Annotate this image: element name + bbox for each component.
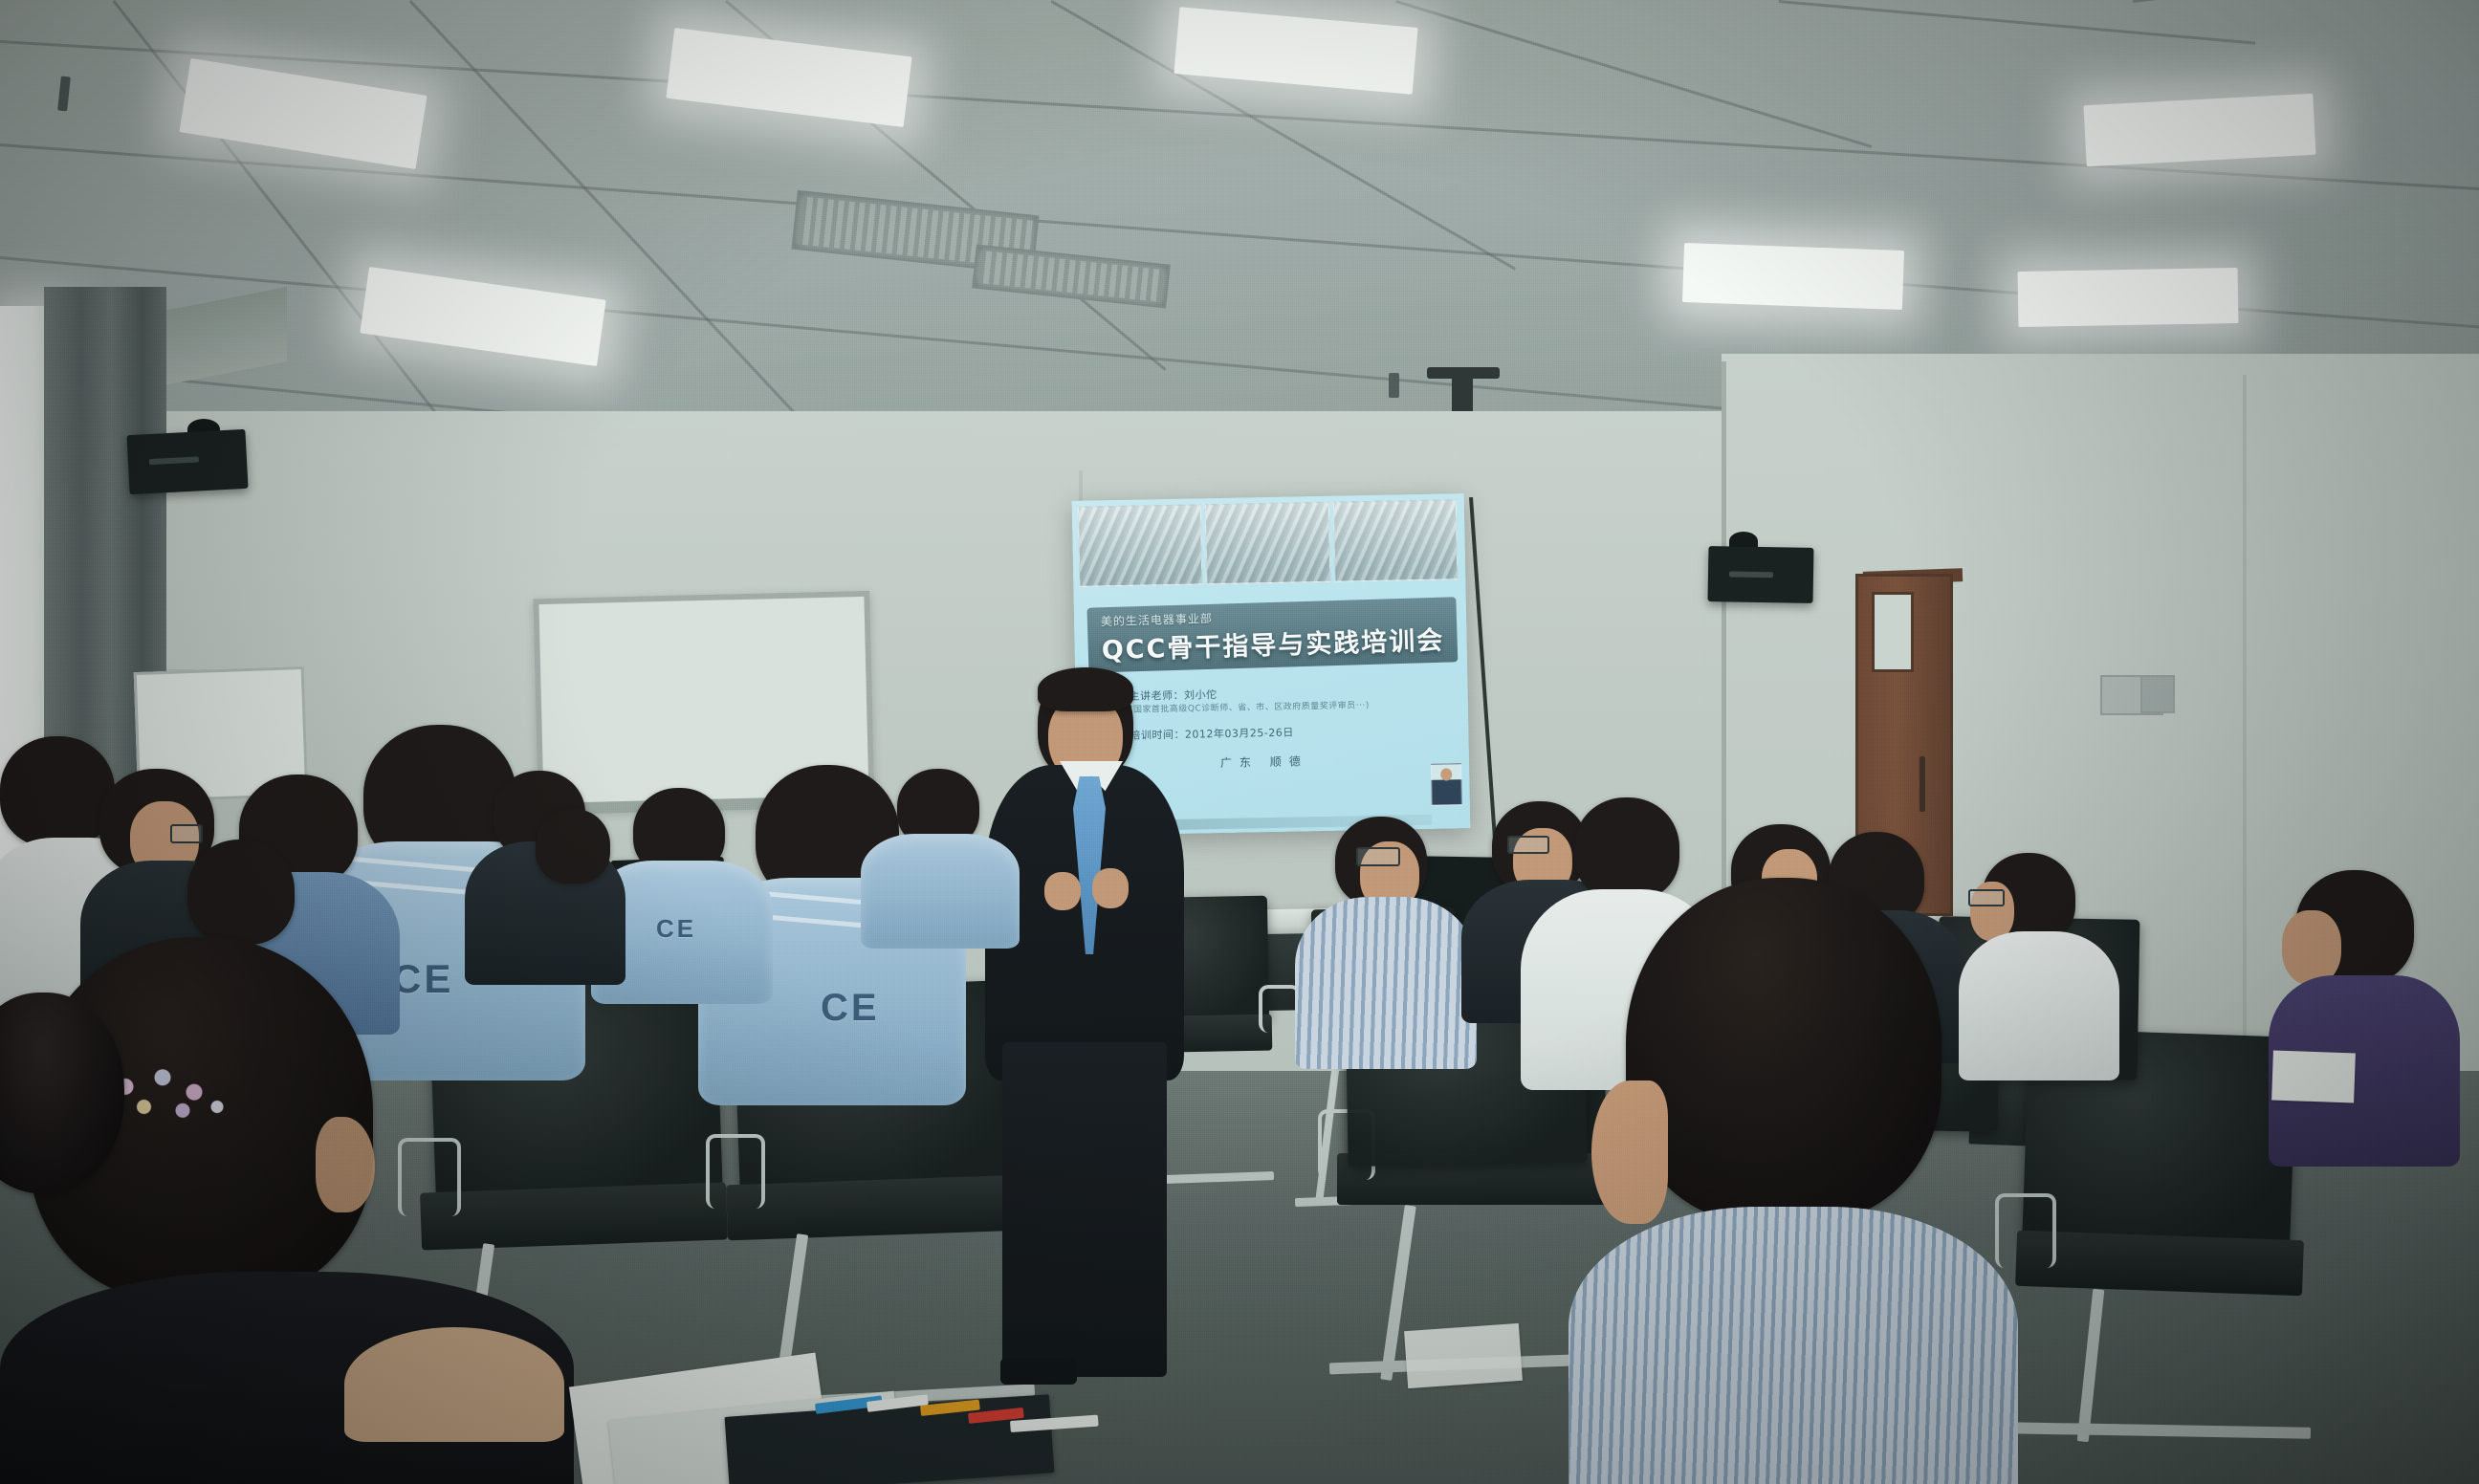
slide-photo [1205, 502, 1330, 584]
right-wall-speaker [1708, 546, 1814, 603]
audience-head [536, 809, 610, 884]
handout-paper[interactable] [1404, 1323, 1523, 1388]
audience-head [1574, 797, 1679, 901]
ceiling-light-panel [2083, 94, 2315, 166]
ceiling-light-panel [2018, 268, 2239, 327]
eyeglasses [1507, 836, 1549, 854]
door-window [1872, 592, 1914, 672]
eyeglasses [1356, 847, 1400, 866]
foreground-shoulder-skin [344, 1327, 564, 1442]
slide-date-line: 培训时间：2012年03月25-26日 [1130, 723, 1441, 743]
presenter-hand [1044, 872, 1081, 910]
ceiling-hook [1389, 373, 1399, 398]
slide-location: 广东 顺德 [1220, 753, 1308, 771]
slide-photo [1078, 504, 1203, 586]
slide-photo-strip [1078, 499, 1459, 587]
slide-photo [1332, 499, 1458, 581]
ceiling-light-panel [1682, 243, 1904, 310]
presenter-shoe [1000, 1358, 1077, 1385]
slide-speaker-portrait [1431, 763, 1462, 806]
presenter-hair [1038, 667, 1133, 711]
left-wall-speaker [126, 429, 248, 494]
presenter-hand [1092, 868, 1129, 908]
eyeglasses [1968, 889, 2005, 906]
foreground-ear [316, 1117, 375, 1212]
ce-badge-text: CE [392, 956, 453, 1002]
audience-torso [1295, 897, 1477, 1069]
training-room-photo: 美的生活电器事业部 QCC骨干指导与实践培训会 主讲老师：刘小佗 (国家首批高级… [0, 0, 2479, 1484]
wall-seam [2243, 375, 2247, 1044]
audience-head [187, 840, 295, 945]
ce-badge-text: CE [821, 987, 880, 1030]
eyeglasses [170, 824, 203, 843]
audience-torso [1959, 931, 2119, 1080]
handout-paper[interactable] [2271, 1051, 2356, 1103]
projector-mount-plate [1427, 367, 1500, 379]
audience-head [0, 736, 115, 847]
foreground-striped-shirt [1569, 1207, 2018, 1484]
ce-badge-text: CE [656, 914, 696, 944]
audience-face [2282, 910, 2341, 985]
audience-ce-uniform [861, 834, 1020, 949]
slide-title-banner: 美的生活电器事业部 QCC骨干指导与实践培训会 [1086, 597, 1458, 672]
door-handle[interactable] [1920, 756, 1925, 812]
presenter-trousers [1002, 1042, 1167, 1377]
slide-body-text: 主讲老师：刘小佗 (国家首批高级QC诊断师、省、市、区政府质量奖评审员···) … [1129, 684, 1441, 743]
foreground-head [1626, 878, 1942, 1222]
foreground-ear [1591, 1080, 1668, 1224]
wall-plate [2140, 675, 2175, 713]
